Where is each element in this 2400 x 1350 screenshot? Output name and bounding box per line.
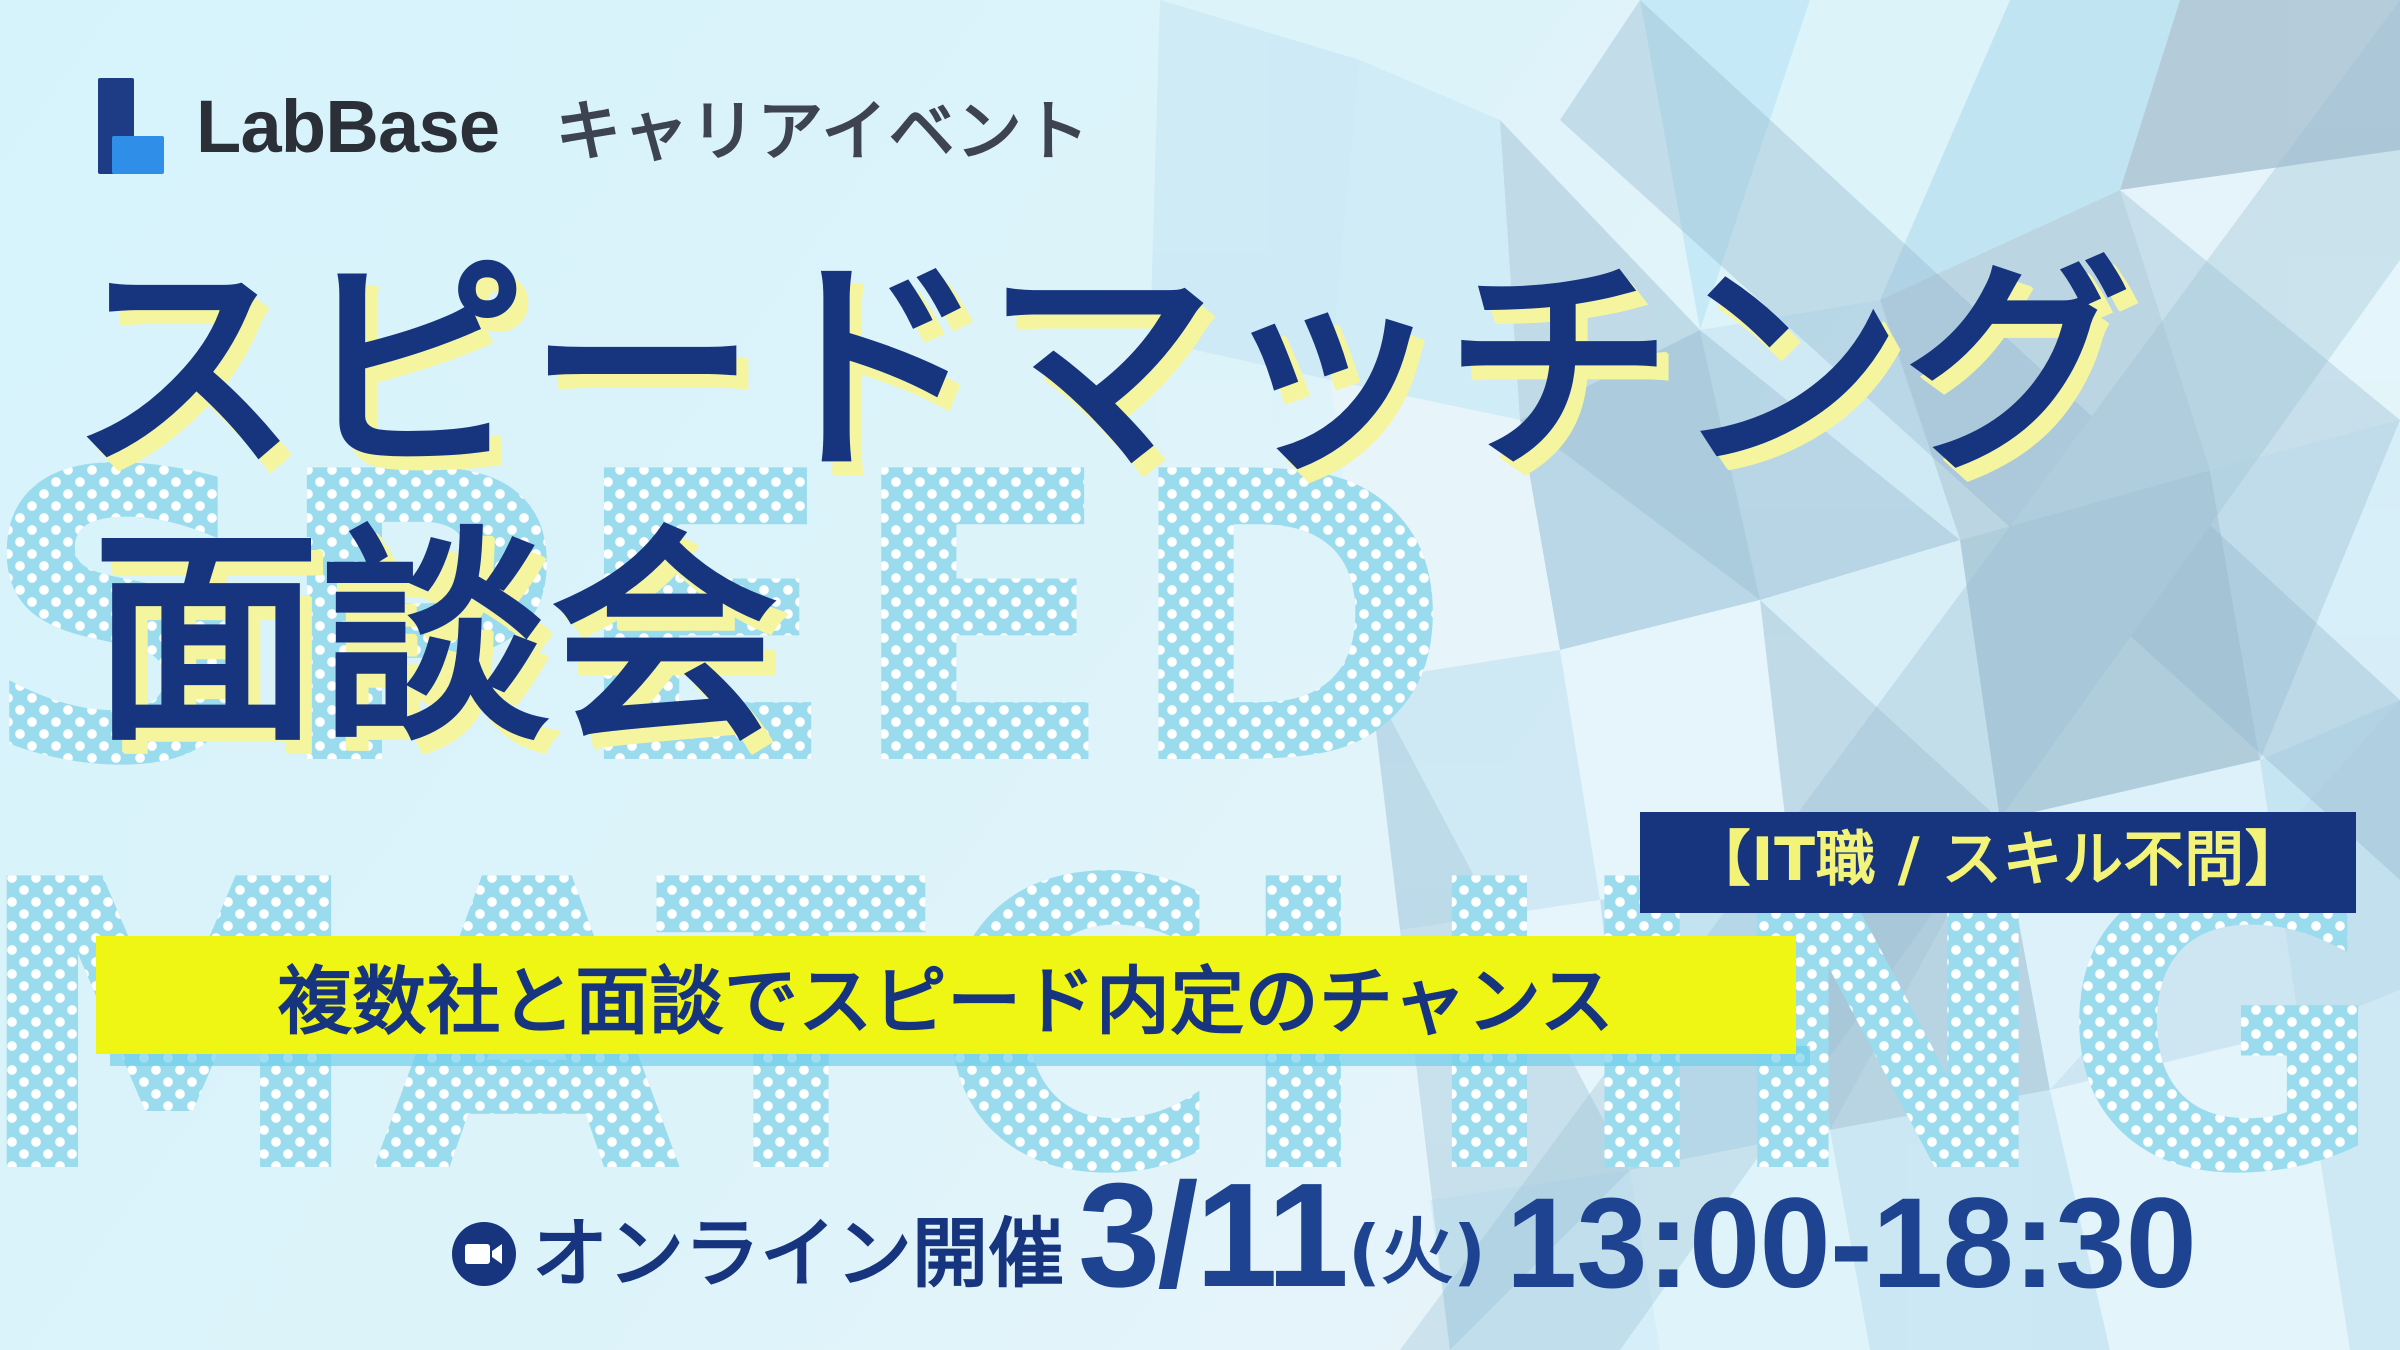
brand-header: LabBase キャリアイベント	[92, 78, 1091, 174]
event-date: 3/11	[1078, 1168, 1346, 1304]
page-title: スピードマッチング 面談会	[70, 255, 2132, 753]
highlight-banner-label: 複数社と面談でスピード内定のチャンス	[278, 942, 1614, 1049]
event-time-range: 13:00-18:30	[1506, 1183, 2196, 1305]
event-details: オンライン開催 3/11 (火) 13:00-18:30	[452, 1168, 2196, 1304]
video-camera-icon	[452, 1222, 516, 1286]
headline-line-2: 面談会	[92, 525, 2132, 753]
logo-square-shape	[112, 136, 164, 174]
headline-line-1: スピードマッチング	[70, 255, 2132, 483]
status-badge-label: 【IT職 / スキル不問】	[1666, 826, 2330, 895]
event-banner: SPEED MATCHING LabBase キャリアイベント スピードマッチン…	[0, 0, 2400, 1350]
highlight-banner: 複数社と面談でスピード内定のチャンス	[96, 936, 1796, 1054]
brand-wordmark: LabBase	[196, 84, 499, 169]
labbase-logo-icon	[92, 78, 166, 174]
brand-subtitle: キャリアイベント	[555, 78, 1090, 174]
event-day-of-week: (火)	[1348, 1216, 1486, 1288]
online-label: オンライン開催	[532, 1216, 1064, 1292]
status-badge: 【IT職 / スキル不問】	[1640, 812, 2356, 913]
